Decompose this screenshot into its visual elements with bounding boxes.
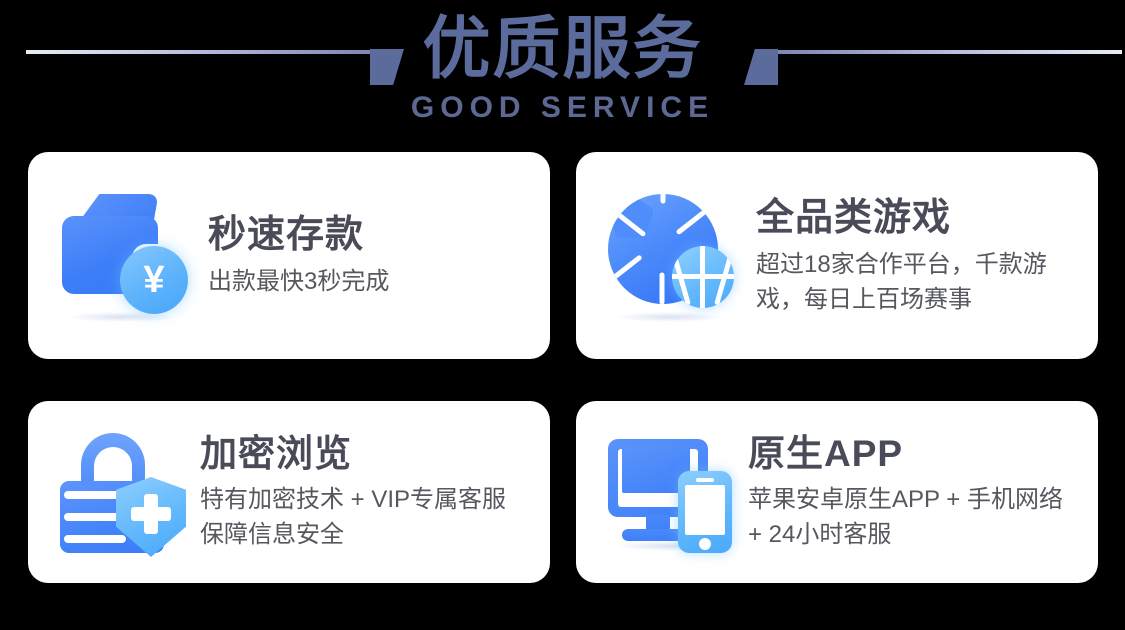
soccer-seam [608,254,643,286]
soccer-seam [661,194,666,204]
feature-card-native-app[interactable]: 原生APP 苹果安卓原生APP + 手机网络 + 24小时客服 [576,401,1098,583]
plus-horizontal [131,507,171,521]
yen-symbol: ¥ [143,261,164,299]
feature-card-title: 原生APP [748,432,1076,476]
soccer-basketball-icon [606,188,742,324]
phone-speaker [696,478,714,482]
soccer-seam [660,272,665,304]
feature-card-title: 全品类游戏 [756,195,1076,241]
feature-card-encryption[interactable]: 加密浏览 特有加密技术 + VIP专属客服保障信息安全 [28,401,550,583]
yen-coin-badge: ¥ [120,246,188,314]
phone-body [678,471,732,553]
feature-card-games[interactable]: 全品类游戏 超过18家合作平台，千款游戏，每日上百场赛事 [576,152,1098,359]
wallet-yen-icon: ¥ [58,188,194,324]
page-header: 优质服务 GOOD SERVICE [0,0,1125,146]
feature-card-deposit[interactable]: ¥ 秒速存款 出款最快3秒完成 [28,152,550,359]
basketball [672,246,734,308]
monitor-phone-icon [606,431,734,553]
lock-slot [64,535,126,543]
feature-card-desc: 苹果安卓原生APP + 手机网络 + 24小时客服 [748,482,1076,552]
page-title-cn: 优质服务 [0,0,1125,90]
icon-shadow [616,312,721,322]
feature-card-title: 秒速存款 [208,212,528,258]
feature-card-desc: 出款最快3秒完成 [208,264,528,299]
feature-card-title: 加密浏览 [200,432,528,476]
feature-card-text: 加密浏览 特有加密技术 + VIP专属客服保障信息安全 [200,432,528,552]
feature-card-text: 全品类游戏 超过18家合作平台，千款游戏，每日上百场赛事 [756,195,1076,317]
phone-screen [685,485,725,535]
feature-card-text: 原生APP 苹果安卓原生APP + 手机网络 + 24小时客服 [748,432,1076,552]
phone-home-button [699,538,711,550]
page-title-en: GOOD SERVICE [0,90,1125,126]
feature-card-text: 秒速存款 出款最快3秒完成 [208,212,528,299]
lock-shield-icon [58,431,186,553]
page-title: 优质服务 GOOD SERVICE [0,0,1125,126]
feature-card-desc: 特有加密技术 + VIP专属客服保障信息安全 [200,482,528,552]
feature-card-grid: ¥ 秒速存款 出款最快3秒完成 [28,152,1098,583]
feature-card-desc: 超过18家合作平台，千款游戏，每日上百场赛事 [756,247,1076,317]
